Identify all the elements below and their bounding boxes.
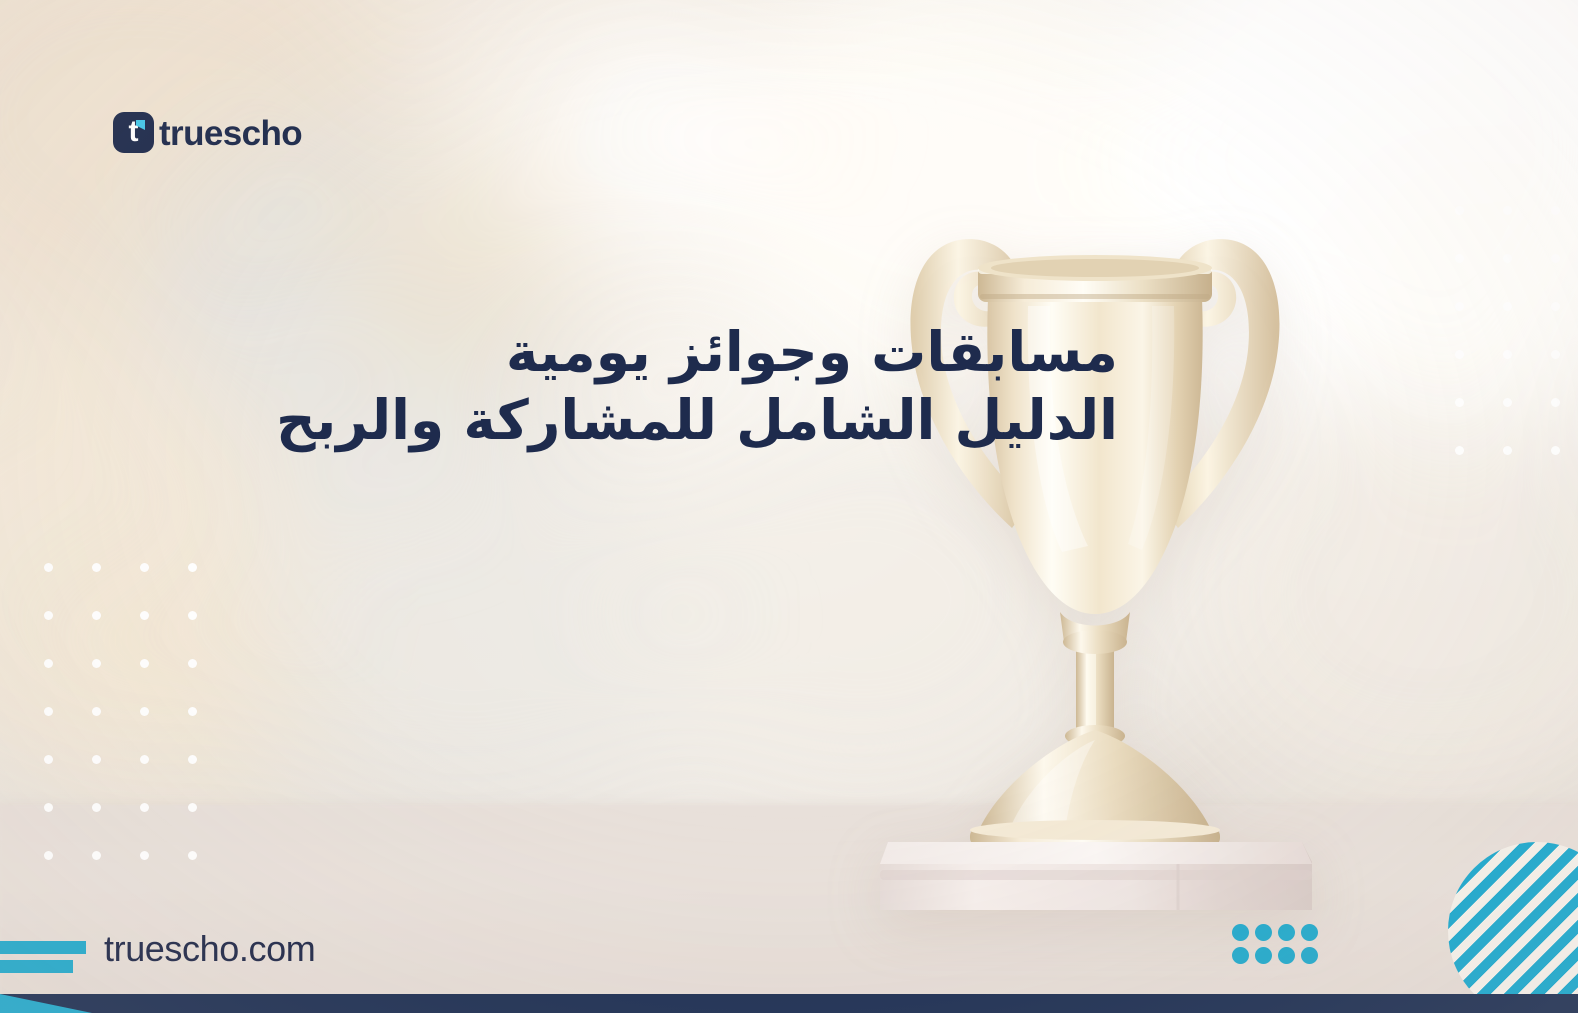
footer-website-url[interactable]: truescho.com (104, 928, 315, 970)
decor-dot (1455, 254, 1464, 263)
decor-dot (1455, 398, 1464, 407)
cyan-decor-dot (1278, 947, 1295, 964)
decor-dot (140, 803, 149, 812)
decor-dot (188, 755, 197, 764)
banner-canvas: t truescho مسابقات وجوائز يومية الدليل ا… (0, 0, 1578, 1013)
cyan-decor-dot (1301, 947, 1318, 964)
decor-dot (92, 755, 101, 764)
decor-dot (44, 851, 53, 860)
decor-dot (1503, 350, 1512, 359)
decor-dot (188, 803, 197, 812)
decor-dot (1503, 302, 1512, 311)
cyan-decor-dot (1232, 924, 1249, 941)
decor-dot (1503, 206, 1512, 215)
cyan-decor-dot (1301, 924, 1318, 941)
decor-dot (140, 659, 149, 668)
cyan-decor-dot (1255, 947, 1272, 964)
decor-dot (140, 563, 149, 572)
decor-dot (1503, 446, 1512, 455)
decor-dot (1455, 302, 1464, 311)
headline-line-1: مسابقات وجوائز يومية (328, 318, 1118, 386)
decor-dot (1551, 206, 1560, 215)
decor-dot (188, 659, 197, 668)
decor-dot (188, 563, 197, 572)
decor-dot (188, 611, 197, 620)
cyan-decor-dot (1278, 924, 1295, 941)
decor-dot (44, 755, 53, 764)
decor-dot (1503, 254, 1512, 263)
decor-dot (1455, 350, 1464, 359)
decor-dot (92, 659, 101, 668)
headline: مسابقات وجوائز يومية الدليل الشامل للمشا… (328, 318, 1118, 454)
brand-logo[interactable]: t truescho (113, 112, 302, 153)
bottom-band (0, 994, 1578, 1013)
logo-wordmark: truescho (159, 114, 302, 154)
cyan-decor-dot (1255, 924, 1272, 941)
decor-dot (92, 707, 101, 716)
decor-dot (140, 611, 149, 620)
decor-dot (92, 803, 101, 812)
decor-dot (92, 851, 101, 860)
decor-dot (44, 659, 53, 668)
decor-dot (1551, 350, 1560, 359)
decor-dot (44, 707, 53, 716)
trophy-image (860, 170, 1330, 910)
decor-dot (1551, 254, 1560, 263)
decor-dot (92, 611, 101, 620)
decor-dot (140, 851, 149, 860)
decor-dot (1503, 398, 1512, 407)
headline-line-2: الدليل الشامل للمشاركة والربح (328, 386, 1118, 454)
decor-dot (188, 707, 197, 716)
decor-dot (44, 563, 53, 572)
cyan-decor-dot (1232, 947, 1249, 964)
decor-dot (188, 851, 197, 860)
decor-dot (1551, 446, 1560, 455)
decor-dot (44, 611, 53, 620)
decor-dot (1455, 446, 1464, 455)
decor-dot (140, 755, 149, 764)
decor-dot (92, 563, 101, 572)
bottom-band-triangle-icon (0, 994, 92, 1013)
decor-dot (1455, 206, 1464, 215)
logo-mark-icon: t (113, 112, 154, 153)
decor-dot (1551, 302, 1560, 311)
decor-dot (1551, 398, 1560, 407)
table-surface (0, 805, 1578, 1013)
footer-bar-accent-icon (0, 941, 86, 973)
decor-dot (44, 803, 53, 812)
decor-dot (140, 707, 149, 716)
